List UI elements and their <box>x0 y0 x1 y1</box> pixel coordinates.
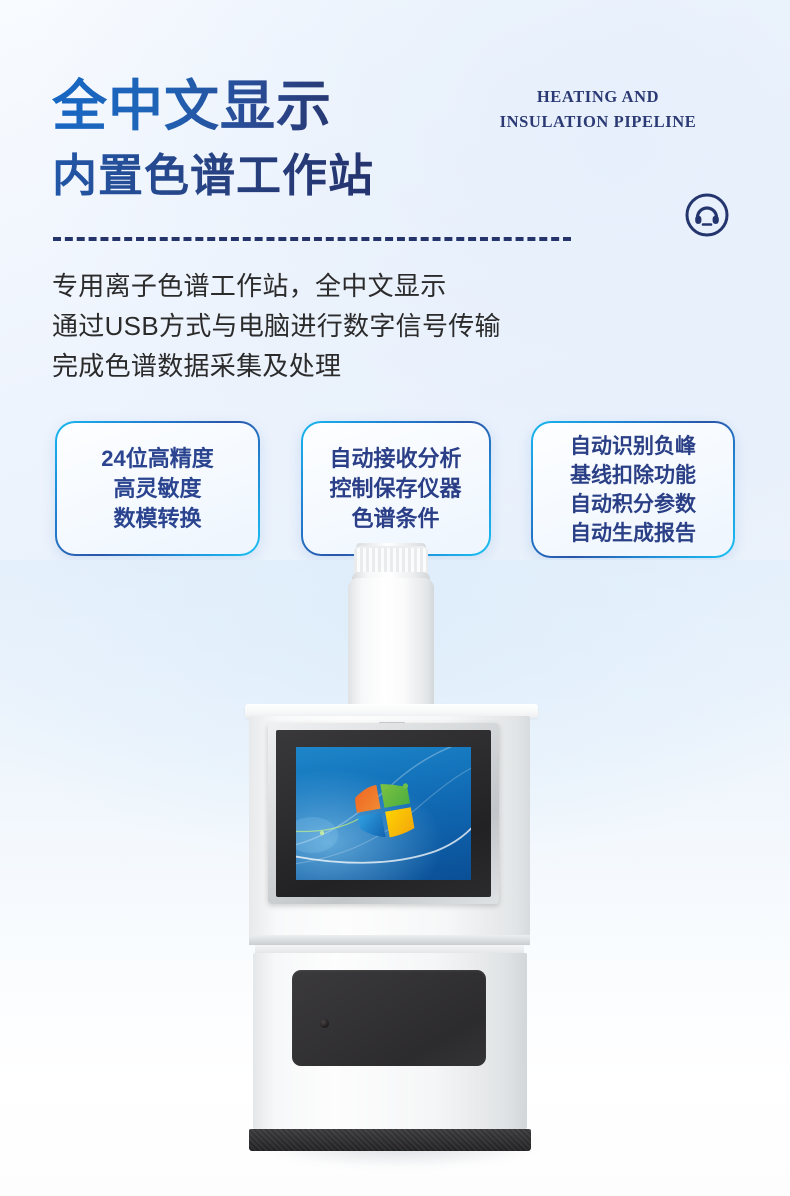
feature-line: 自动生成报告 <box>570 519 696 548</box>
header-english-line-2: INSULATION PIPELINE <box>458 109 738 134</box>
feature-box-precision: 24位高精度 高灵敏度 数模转换 <box>55 421 260 556</box>
header-english-line-1: HEATING AND <box>458 84 738 109</box>
feature-box-acquisition: 自动接收分析 控制保存仪器 色谱条件 <box>301 421 491 556</box>
console-base-trim-2 <box>255 945 524 953</box>
feature-line: 自动积分参数 <box>570 490 696 519</box>
headset-circle-icon <box>684 192 730 238</box>
wallpaper-swoosh <box>296 747 471 880</box>
feature-line: 色谱条件 <box>351 504 439 534</box>
cabinet-plinth <box>249 1129 531 1151</box>
header-english-subtitle: HEATING AND INSULATION PIPELINE <box>458 84 738 134</box>
feature-line: 自动识别负峰 <box>570 432 696 461</box>
console-base-trim <box>249 935 530 945</box>
windows-logo-icon <box>350 778 419 844</box>
feature-line: 24位高精度 <box>101 444 213 474</box>
page-title: 全中文显示 <box>52 75 332 137</box>
description-line-2: 通过USB方式与电脑进行数字信号传输 <box>52 306 672 346</box>
monitor-screen <box>296 747 471 880</box>
feature-box-list: 24位高精度 高灵敏度 数模转换 自动接收分析 控制保存仪器 色谱条件 自动识别… <box>55 421 735 561</box>
eluent-bottle <box>348 578 434 708</box>
feature-line: 数模转换 <box>113 504 201 534</box>
dashed-divider <box>53 237 571 241</box>
feature-line: 自动接收分析 <box>329 444 461 474</box>
cabinet-knob <box>320 1019 329 1028</box>
page-subtitle: 内置色谱工作站 <box>52 150 374 202</box>
feature-box-analysis: 自动识别负峰 基线扣除功能 自动积分参数 自动生成报告 <box>531 421 735 558</box>
cabinet-door-panel <box>292 970 486 1066</box>
feature-line: 高灵敏度 <box>113 474 201 504</box>
description-line-3: 完成色谱数据采集及处理 <box>52 346 672 386</box>
feature-line: 基线扣除功能 <box>570 461 696 490</box>
description-line-1: 专用离子色谱工作站，全中文显示 <box>52 266 672 306</box>
feature-line: 控制保存仪器 <box>329 474 461 504</box>
description-block: 专用离子色谱工作站，全中文显示 通过USB方式与电脑进行数字信号传输 完成色谱数… <box>52 266 672 386</box>
promo-page: HEATING AND INSULATION PIPELINE 全中文显示 内置… <box>0 0 790 1196</box>
